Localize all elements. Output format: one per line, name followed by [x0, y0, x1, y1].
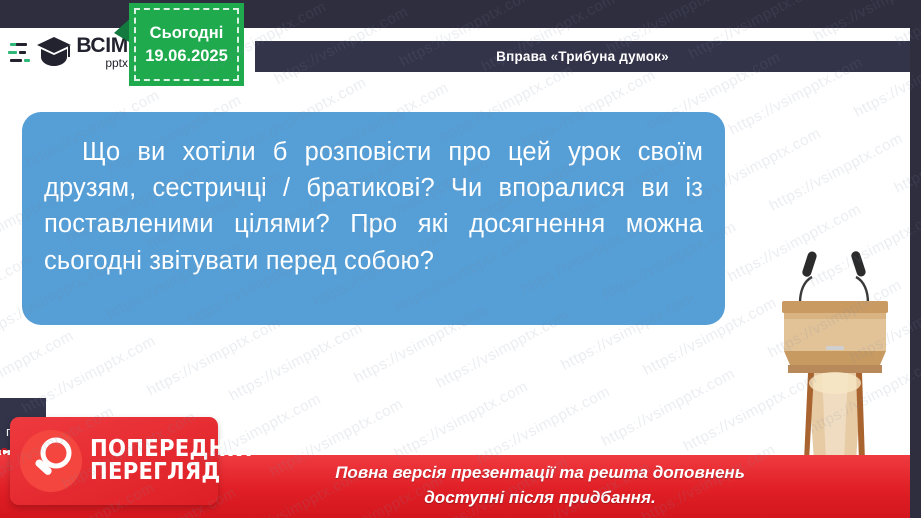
page-title: Вправа «Трибуна думок»: [496, 49, 669, 64]
podium-with-microphones-icon: [760, 215, 908, 477]
purchase-notice-line-2: доступні після придбання.: [240, 486, 840, 511]
preview-badge-line-1: ПОПЕРЕДНІЙ: [90, 438, 253, 461]
speed-lines-icon: [8, 37, 32, 67]
date-badge-value: 19.06.2025: [145, 47, 228, 65]
preview-badge[interactable]: ПОПЕРЕДНІЙ ПЕРЕГЛЯД: [10, 417, 218, 505]
question-box: Що ви хотіли б розповісти про цей урок с…: [22, 112, 725, 325]
preview-badge-line-2: ПЕРЕГЛЯД: [90, 461, 253, 484]
graduation-cap-icon: [36, 35, 72, 69]
date-badge: Сьогодні 19.06.2025: [129, 3, 244, 86]
brand-logo: ВСІМ pptx: [8, 28, 128, 76]
question-text: Що ви хотіли б розповісти про цей урок с…: [44, 134, 703, 279]
magnifier-icon: [20, 430, 82, 492]
date-ribbon: Сьогодні 19.06.2025: [129, 3, 244, 86]
purchase-notice-text: Повна версія презентації та решта доповн…: [240, 461, 840, 510]
date-badge-label: Сьогодні: [150, 24, 224, 42]
logo-text: ВСІМ pptx: [76, 35, 128, 69]
logo-subtitle: pptx: [105, 57, 128, 69]
slide-title-bar: Вправа «Трибуна думок»: [255, 41, 910, 72]
slide-frame-right: [910, 0, 921, 518]
slide-canvas: Вправа «Трибуна думок» ВСІМ pptx Сьогодн…: [0, 0, 921, 518]
logo-brand: ВСІМ: [76, 35, 128, 56]
preview-badge-labels: ПОПЕРЕДНІЙ ПЕРЕГЛЯД: [90, 438, 267, 485]
header-right-band: [255, 0, 921, 28]
purchase-notice-line-1: Повна версія презентації та решта доповн…: [240, 461, 840, 486]
date-badge-dashed-border: [134, 8, 239, 81]
